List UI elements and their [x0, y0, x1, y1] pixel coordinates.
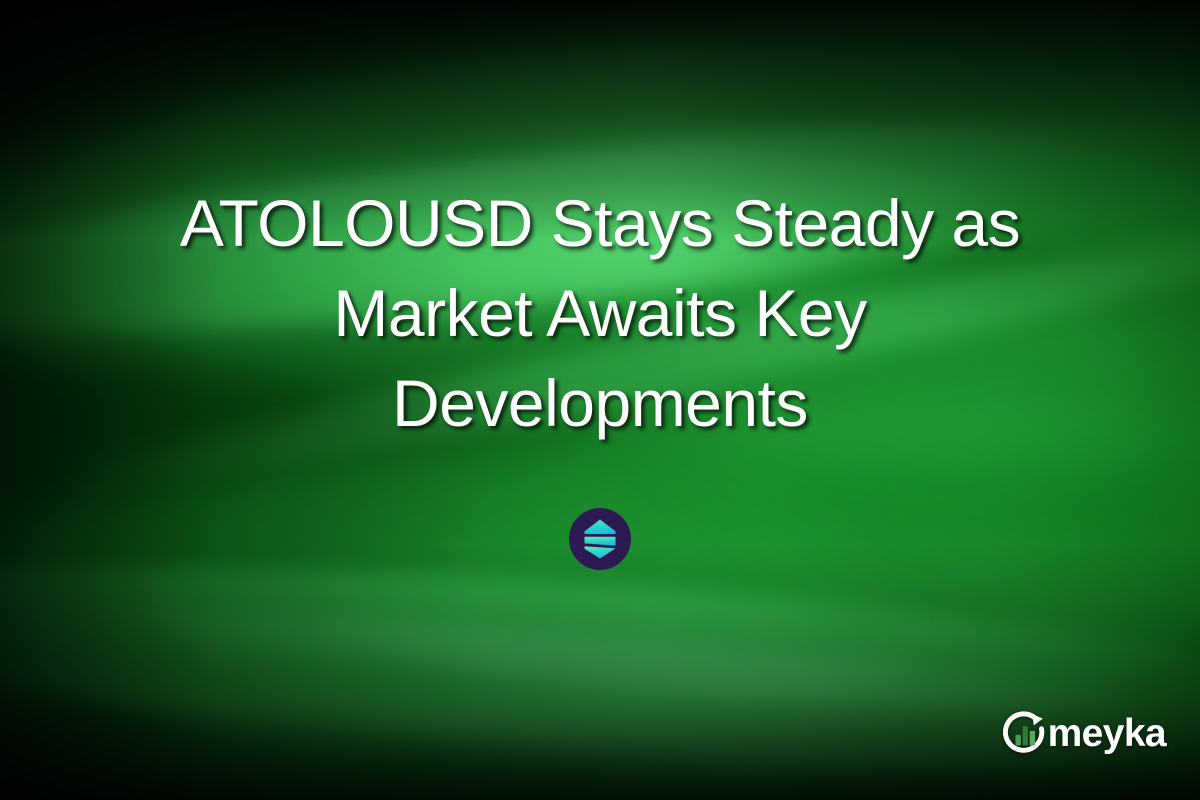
atolo-coin-icon — [569, 508, 631, 570]
meyka-logo-icon — [1003, 710, 1049, 756]
headline: ATOLOUSD Stays Steady as Market Awaits K… — [0, 178, 1200, 448]
meyka-wordmark: meyka — [1048, 714, 1166, 753]
headline-line-3: Developments — [60, 358, 1140, 448]
social-share-card: ATOLOUSD Stays Steady as Market Awaits K… — [0, 0, 1200, 800]
headline-line-2: Market Awaits Key — [60, 268, 1140, 358]
ribbon-shape-8 — [77, 421, 943, 800]
brand-lockup: meyka — [1003, 710, 1166, 756]
headline-line-1: ATOLOUSD Stays Steady as — [60, 178, 1140, 268]
coin-logo — [569, 508, 631, 570]
